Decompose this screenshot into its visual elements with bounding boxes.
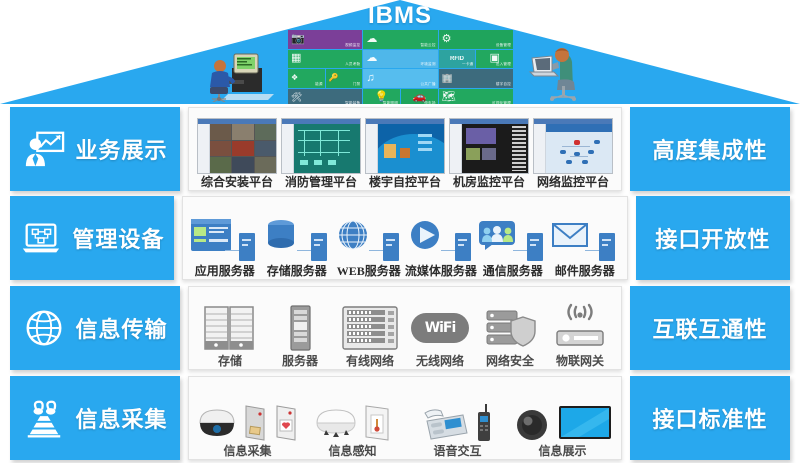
roof-tile-3[interactable]: ▦ 人员考勤 xyxy=(288,50,362,69)
people-chat-icon xyxy=(479,219,519,251)
music-note-icon: ♫ xyxy=(366,73,374,84)
server-tower-icon xyxy=(269,303,331,353)
play-button-icon xyxy=(407,219,447,251)
roof-tile-6[interactable]: ▣ 出入管理 xyxy=(476,50,513,69)
roof-tile-5[interactable]: RFID 一卡通 xyxy=(439,50,476,69)
rfid-icon: RFID xyxy=(450,56,464,62)
server-label: WEB服务器 xyxy=(337,265,401,277)
puzzle-icon: ❖ xyxy=(291,74,298,82)
network-cell-wired[interactable]: 有线网络 xyxy=(335,291,405,367)
gear-icon: ⚙ xyxy=(442,34,452,45)
platform-label: 消防管理平台 xyxy=(285,176,357,188)
device-icons xyxy=(512,391,613,443)
platform-label: 网络监控平台 xyxy=(537,176,609,188)
presentation-person-icon xyxy=(22,127,66,171)
smoke-detector-icon xyxy=(314,403,358,443)
map-icon: 🗺 xyxy=(442,92,456,103)
roof-tile-10[interactable]: 🏢 楼宇自控 xyxy=(439,69,513,88)
platform-label: 楼宇自控平台 xyxy=(369,176,441,188)
roof-tile-13[interactable]: 🚗 停车场 xyxy=(401,89,438,105)
platform-label: 机房监控平台 xyxy=(453,176,525,188)
machine-icon: 🛠 xyxy=(291,93,302,102)
person-at-desktop-computer-icon xyxy=(198,42,282,102)
emergency-button-icon xyxy=(273,403,299,443)
ibms-architecture-diagram: IBMS xyxy=(0,0,800,463)
roof-tile-grid: 📷 视频监控 ☁ 智能云控 ⚙ 设备管理 ▦ 人员考勤 ☁ 环境监测 RFID xyxy=(288,30,513,104)
server-label: 邮件服务器 xyxy=(555,265,615,277)
feature-label: 互联互通性 xyxy=(652,312,767,344)
roof-tile-8[interactable]: 🔑 门禁 xyxy=(326,69,363,88)
roof-tile-4[interactable]: ☁ 环境监测 xyxy=(363,50,437,69)
desk-phone-icon xyxy=(421,403,469,443)
feature-label: 接口开放性 xyxy=(655,222,770,254)
network-cell-security[interactable]: 网络安全 xyxy=(475,291,545,367)
platform-cell-integrated-install[interactable]: 综合安装平台 xyxy=(195,112,279,188)
device-group-label: 信息展示 xyxy=(538,445,586,457)
sidebar-item-business-display[interactable]: 业务展示 xyxy=(10,107,180,191)
sidebar-item-information-transmission[interactable]: 信息传输 xyxy=(10,286,180,370)
device-group-label: 信息感知 xyxy=(328,445,376,457)
device-group-voice[interactable]: 语音交互 xyxy=(405,381,510,457)
page-title: IBMS xyxy=(0,2,800,30)
roof-tile-9[interactable]: ♫ 公共广播 xyxy=(363,69,437,88)
cloud-data-icon: ☁ xyxy=(366,53,377,64)
network-cell-wireless[interactable]: WiFi 无线网络 xyxy=(405,291,475,367)
feature-card-high-integration[interactable]: 高度集成性 xyxy=(630,107,790,191)
network-label: 有线网络 xyxy=(346,355,394,367)
server-label: 存储服务器 xyxy=(267,265,327,277)
roof-tile-11[interactable]: 🛠 智能装备 xyxy=(288,89,362,105)
network-topology-screenshot xyxy=(533,118,613,174)
feature-label: 接口标准性 xyxy=(652,402,767,434)
person-on-chair-with-laptop-icon xyxy=(518,42,602,102)
server-cell-mail[interactable]: 邮件服务器 xyxy=(549,201,621,277)
server-label: 通信服务器 xyxy=(483,265,543,277)
storage-server-icon xyxy=(261,217,333,263)
web-server-icon xyxy=(333,217,405,263)
feature-card-standard-interface[interactable]: 接口标准性 xyxy=(630,376,790,460)
device-icons xyxy=(314,391,391,443)
communication-server-icon xyxy=(477,217,549,263)
device-icons xyxy=(197,391,299,443)
roof-tile-14[interactable]: 🗺 可视化管理 xyxy=(439,89,513,105)
grid-icon: ▦ xyxy=(291,53,301,64)
device-group-collection[interactable]: 信息采集 xyxy=(195,381,300,457)
server-cell-web[interactable]: WEB服务器 xyxy=(333,201,405,277)
network-cell-server[interactable]: 服务器 xyxy=(265,291,335,367)
key-icon: 🔑 xyxy=(329,74,339,82)
sidebar-label-information-collection: 信息采集 xyxy=(75,402,167,434)
network-label: 无线网络 xyxy=(416,355,464,367)
wifi-text: WiFi xyxy=(425,320,456,336)
roof-tile-7[interactable]: ❖ 能源 xyxy=(288,69,325,88)
cloud-icon: ☁ xyxy=(366,34,377,45)
wifi-icon: WiFi xyxy=(409,303,471,353)
dome-camera-icon xyxy=(197,403,237,443)
device-group-label: 信息采集 xyxy=(223,445,271,457)
feature-label: 高度集成性 xyxy=(652,133,767,165)
platform-cell-fire-control[interactable]: 消防管理平台 xyxy=(279,112,363,188)
storage-cabinet-icon xyxy=(199,303,261,353)
business-display-panel: 综合安装平台 消防 xyxy=(188,107,622,191)
display-screen-icon xyxy=(557,403,613,443)
roof-section: IBMS xyxy=(0,0,800,104)
management-devices-panel: 应用服务器 存储服务器 xyxy=(182,196,628,280)
thermostat-panel-icon xyxy=(363,403,391,443)
sensor-array-icon xyxy=(22,396,66,440)
platform-label: 综合安装平台 xyxy=(201,176,273,188)
globe-wireframe-icon xyxy=(335,219,375,251)
envelope-icon xyxy=(551,219,591,251)
server-cell-streaming[interactable]: 流媒体服务器 xyxy=(405,201,477,277)
speaker-icon xyxy=(512,403,552,443)
network-label: 物联网关 xyxy=(556,355,604,367)
wireless-gateway-icon xyxy=(549,303,611,353)
fire-control-scada-screenshot xyxy=(281,118,361,174)
platform-cell-network-monitor[interactable]: 网络监控平台 xyxy=(531,112,615,188)
application-server-icon xyxy=(189,217,261,263)
sidebar-label-business-display: 业务展示 xyxy=(75,133,167,165)
database-cylinder-icon xyxy=(263,219,303,251)
server-label: 流媒体服务器 xyxy=(405,265,477,277)
sidebar-label-management-devices: 管理设备 xyxy=(72,222,164,254)
laptop-network-icon xyxy=(19,216,63,260)
layer-row-business-display: 业务展示 综合安装平台 xyxy=(0,107,800,191)
network-label: 服务器 xyxy=(282,355,318,367)
network-cell-iot-gateway[interactable]: 物联网关 xyxy=(545,291,615,367)
network-label: 网络安全 xyxy=(486,355,534,367)
information-transmission-panel: 存储 服务器 xyxy=(188,286,622,370)
device-group-display[interactable]: 信息展示 xyxy=(510,381,615,457)
feature-card-interconnection[interactable]: 互联互通性 xyxy=(630,286,790,370)
walkie-talkie-icon xyxy=(474,403,494,443)
device-icons xyxy=(421,391,494,443)
layer-row-information-collection: 信息采集 xyxy=(0,376,800,460)
roof-tile-2[interactable]: ⚙ 设备管理 xyxy=(439,30,513,49)
network-switch-rack-icon xyxy=(339,303,401,353)
sidebar-label-information-transmission: 信息传输 xyxy=(75,312,167,344)
network-label: 存储 xyxy=(218,355,242,367)
globe-icon xyxy=(22,306,66,350)
building-icon: 🏢 xyxy=(442,74,453,83)
server-label: 应用服务器 xyxy=(195,265,255,277)
server-cell-communication[interactable]: 通信服务器 xyxy=(477,201,549,277)
network-cell-storage[interactable]: 存储 xyxy=(195,291,265,367)
platform-cell-building-automation[interactable]: 楼宇自控平台 xyxy=(363,112,447,188)
mail-server-icon xyxy=(549,217,621,263)
server-room-monitor-screenshot xyxy=(449,118,529,174)
feature-card-open-interface[interactable]: 接口开放性 xyxy=(636,196,790,280)
roof-tile-12[interactable]: 💡 智能照明 xyxy=(363,89,400,105)
card-reader-icon xyxy=(242,403,268,443)
roof-tile-1[interactable]: ☁ 智能云控 xyxy=(363,30,437,49)
sidebar-item-information-collection[interactable]: 信息采集 xyxy=(10,376,180,460)
video-camera-icon: 📷 xyxy=(291,34,305,45)
server-cell-storage[interactable]: 存储服务器 xyxy=(261,201,333,277)
layer-row-information-transmission: 信息传输 xyxy=(0,286,800,370)
streaming-server-icon xyxy=(405,217,477,263)
server-shield-icon xyxy=(479,303,541,353)
device-group-sensing[interactable]: 信息感知 xyxy=(300,381,405,457)
cctv-multiview-screenshot xyxy=(197,118,277,174)
building-automation-screenshot xyxy=(365,118,445,174)
layer-row-management-devices: 管理设备 应用服务器 xyxy=(0,196,800,280)
information-collection-panel: 信息采集 xyxy=(188,376,622,460)
sidebar-item-management-devices[interactable]: 管理设备 xyxy=(10,196,174,280)
server-cell-application[interactable]: 应用服务器 xyxy=(189,201,261,277)
device-group-label: 语音交互 xyxy=(433,445,481,457)
roof-tile-0[interactable]: 📷 视频监控 xyxy=(288,30,362,49)
platform-cell-server-room[interactable]: 机房监控平台 xyxy=(447,112,531,188)
application-window-icon xyxy=(191,219,231,251)
